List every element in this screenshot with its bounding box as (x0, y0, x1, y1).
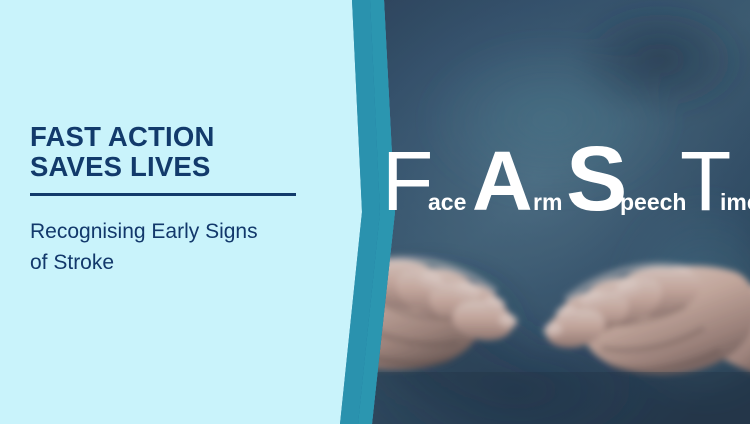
fast-letter-s: S (566, 132, 627, 218)
headline: FAST ACTION SAVES LIVES (30, 122, 310, 182)
headline-line-1: FAST ACTION (30, 122, 310, 152)
fast-word-time-rest: ime (720, 189, 750, 215)
fast-stroke-awareness-banner: F ace A rm S peech T ime FAST ACTION SAV… (0, 0, 750, 424)
fast-word-arm-rest: rm (533, 189, 562, 215)
fast-acronym-overlay: F ace A rm S peech T ime (380, 132, 750, 218)
fast-letter-a: A (472, 134, 533, 218)
subheadline: Recognising Early Signs of Stroke (30, 216, 320, 278)
headline-divider (30, 193, 296, 196)
fast-word-face-rest: ace (428, 189, 466, 215)
fast-acronym-svg: F ace A rm S peech T ime (380, 132, 750, 218)
subheadline-line-2: of Stroke (30, 247, 320, 278)
left-text-panel: FAST ACTION SAVES LIVES Recognising Earl… (0, 0, 330, 424)
fast-word-speech-rest: peech (620, 189, 686, 215)
subheadline-line-1: Recognising Early Signs (30, 216, 320, 247)
headline-line-2: SAVES LIVES (30, 152, 310, 182)
fast-letter-f: F (382, 134, 433, 218)
